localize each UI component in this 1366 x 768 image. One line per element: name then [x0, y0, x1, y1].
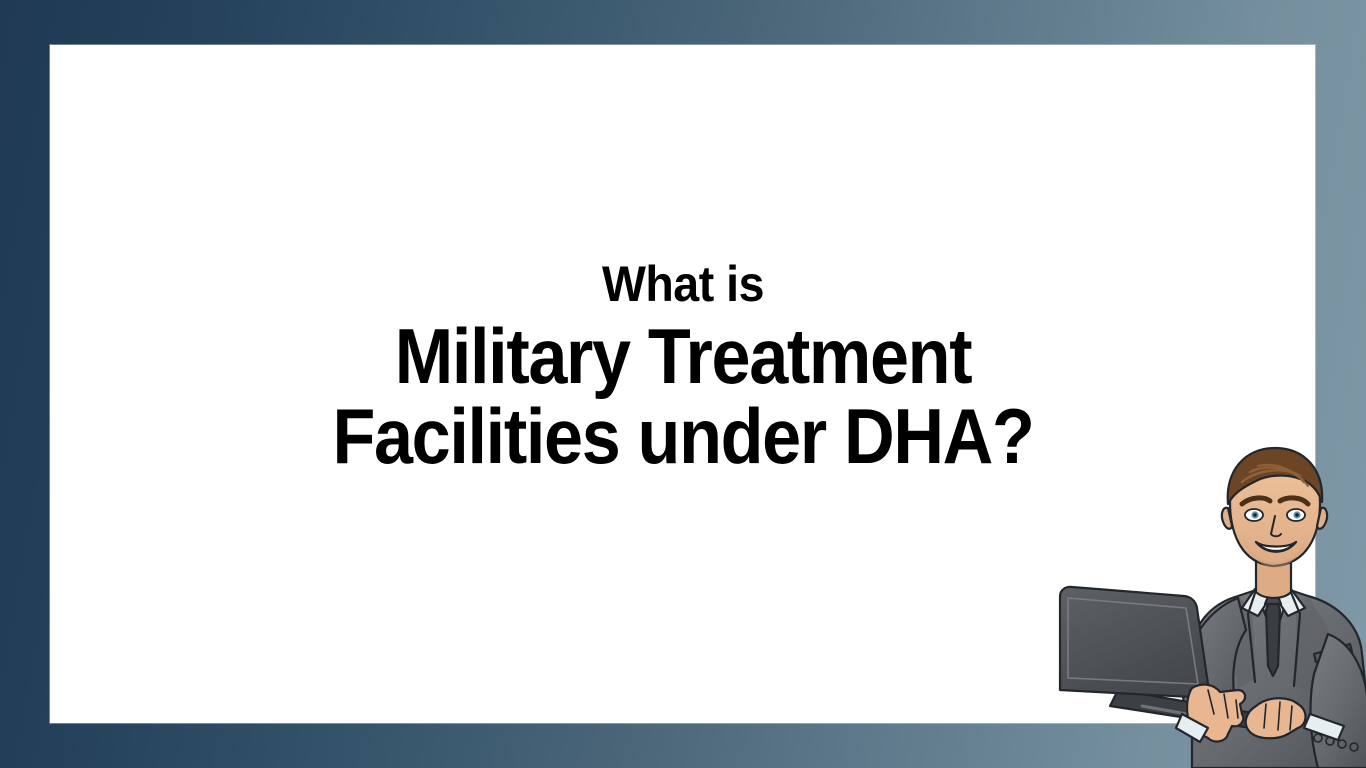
- slide-root: What is Military Treatment Facilities un…: [0, 0, 1366, 768]
- content-panel: [50, 45, 1315, 723]
